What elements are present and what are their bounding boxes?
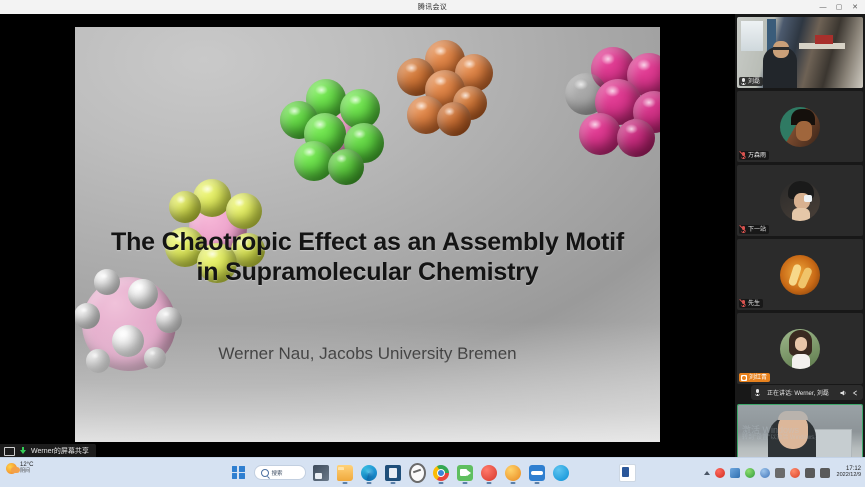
taskbar-app-cherry[interactable] — [481, 464, 498, 481]
search-placeholder: 搜索 — [272, 469, 283, 477]
search-icon — [261, 469, 269, 477]
participant-name-chip: 万森雨 — [739, 151, 769, 160]
speaking-label: 正在讲话: Werner, 刘磊 — [767, 388, 835, 397]
participant-name: 先生 — [748, 301, 760, 307]
avatar — [780, 329, 820, 369]
window-title: 腾讯会议 — [418, 2, 447, 12]
wave-app-icon — [529, 465, 545, 481]
tray-shield-icon[interactable] — [745, 468, 755, 478]
store-icon — [385, 465, 401, 481]
chrome-icon — [433, 465, 449, 481]
tray-network-icon[interactable] — [730, 468, 740, 478]
slide-subtitle: Werner Nau, Jacobs University Bremen — [103, 344, 632, 364]
office-icon — [619, 464, 636, 482]
volume-icon — [839, 389, 847, 397]
slide-title: The Chaotropic Effect as an Assembly Mot… — [103, 227, 632, 287]
meeting-window: 腾讯会议 — ▢ ✕ — [0, 0, 865, 487]
taskbar-app-meeting[interactable] — [457, 464, 474, 481]
collapse-arrow-icon[interactable] — [851, 389, 859, 397]
participant-tile[interactable]: 下一站 — [737, 165, 863, 236]
edge-icon — [361, 465, 377, 481]
mic-muted-icon — [741, 152, 746, 159]
clock-date: 2022/12/9 — [837, 473, 861, 479]
participant-tile[interactable]: 刘磊 — [737, 17, 863, 88]
window-controls: — ▢ ✕ — [815, 0, 863, 14]
avatar — [780, 255, 820, 295]
download-icon — [19, 447, 27, 455]
participant-name-chip-host: 刘红青 — [739, 373, 770, 382]
taskbar-app-peach[interactable] — [505, 464, 522, 481]
minimize-button[interactable]: — — [815, 0, 831, 14]
tray-input-icon[interactable] — [775, 468, 785, 478]
taskbar-app-office[interactable] — [619, 464, 636, 481]
shared-screen-stage[interactable]: The Chaotropic Effect as an Assembly Mot… — [0, 14, 735, 458]
participant-tile[interactable]: 万森雨 — [737, 91, 863, 162]
molecule-cluster-orange — [397, 40, 497, 140]
taskbar-clock[interactable]: 17:12 2022/12/9 — [837, 466, 861, 478]
file-explorer-icon — [337, 465, 353, 481]
task-view-icon — [313, 465, 329, 481]
screen-share-banner: Werner的屏幕共享 — [0, 444, 96, 458]
close-button[interactable]: ✕ — [847, 0, 863, 14]
taskbar-app-wave[interactable] — [529, 464, 546, 481]
start-icon — [232, 466, 245, 479]
mic-muted-icon — [741, 300, 746, 307]
molecule-cluster-green — [280, 79, 386, 185]
participant-name-chip: 下一站 — [739, 225, 769, 234]
screen-share-label: Werner的屏幕共享 — [31, 446, 89, 456]
participant-name: 万森雨 — [748, 153, 766, 159]
tray-qq-icon[interactable] — [715, 468, 725, 478]
windows-taskbar[interactable]: 12°C 阴间 搜索 — [0, 457, 865, 487]
tray-mic-icon[interactable] — [760, 468, 770, 478]
participant-tile-active[interactable]: 激活 Windows 转到"设置"以激活 Windows。 Werner — [737, 404, 863, 458]
meeting-body: The Chaotropic Effect as an Assembly Mot… — [0, 14, 865, 458]
meeting-app-icon — [457, 465, 473, 481]
mic-icon — [741, 78, 746, 85]
participant-tile[interactable]: 先生 — [737, 239, 863, 310]
taskbar-app-microsoft-edge[interactable] — [361, 464, 378, 481]
mic-muted-icon — [741, 226, 746, 233]
host-icon — [741, 375, 747, 381]
browser-ring-icon — [409, 463, 426, 483]
participant-rail[interactable]: 刘磊 万森雨 — [735, 14, 865, 458]
search-box[interactable]: 搜索 — [254, 465, 306, 480]
participant-name-chip: 刘磊 — [739, 77, 763, 86]
taskbar-app-skype[interactable] — [553, 464, 570, 481]
participant-name-chip: 先生 — [739, 299, 763, 308]
tray-alert-icon[interactable] — [790, 468, 800, 478]
system-tray[interactable]: 17:12 2022/12/9 — [704, 458, 861, 487]
avatar — [780, 107, 820, 147]
participant-name: 刘磊 — [748, 79, 760, 85]
tray-usb-icon[interactable] — [805, 468, 815, 478]
peach-app-icon — [505, 465, 521, 481]
avatar — [780, 181, 820, 221]
window-titlebar: 腾讯会议 — ▢ ✕ — [0, 0, 865, 15]
taskbar-app-microsoft-store[interactable] — [385, 464, 402, 481]
maximize-button[interactable]: ▢ — [831, 0, 847, 14]
skype-icon — [553, 465, 569, 481]
taskbar-app-task-view[interactable] — [313, 464, 330, 481]
start-button[interactable] — [230, 464, 247, 481]
speaking-indicator[interactable]: 正在讲话: Werner, 刘磊 — [751, 385, 863, 400]
participant-tile[interactable]: 刘红青 — [737, 313, 863, 384]
taskbar-app-file-explorer[interactable] — [337, 464, 354, 481]
participant-name: 刘红青 — [749, 375, 767, 381]
taskbar-app-google-chrome[interactable] — [433, 464, 450, 481]
participant-name: 下一站 — [748, 227, 766, 233]
presentation-slide: The Chaotropic Effect as an Assembly Mot… — [75, 27, 660, 442]
mic-icon — [755, 389, 763, 397]
monitor-icon — [4, 447, 15, 456]
taskbar-app-browser-ring[interactable] — [409, 464, 426, 481]
molecule-cluster-magenta — [565, 47, 660, 157]
tray-chevron-up-icon[interactable] — [704, 471, 710, 475]
cherry-app-icon — [481, 465, 497, 481]
tray-extra-icon[interactable] — [820, 468, 830, 478]
